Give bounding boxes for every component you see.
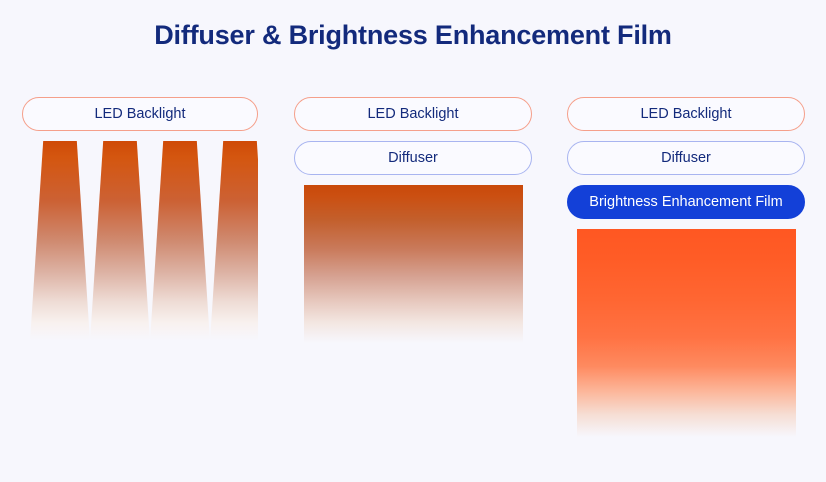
layer-pill-diffuser[interactable]: Diffuser xyxy=(294,141,532,175)
layer-pill-led-backlight[interactable]: LED Backlight xyxy=(567,97,805,131)
led-light-cone xyxy=(30,141,90,341)
page-title: Diffuser & Brightness Enhancement Film xyxy=(0,20,826,51)
layer-pill-diffuser[interactable]: Diffuser xyxy=(567,141,805,175)
layer-pill-brightness-enhancement-film[interactable]: Brightness Enhancement Film xyxy=(567,185,805,219)
led-light-cone xyxy=(210,141,258,341)
panel-diffuser: LED Backlight Diffuser xyxy=(294,97,532,385)
light-stage-bef xyxy=(567,229,805,441)
light-stage-led xyxy=(22,141,258,353)
diffused-light-block xyxy=(304,185,523,343)
panel-brightness-enhancement-film: LED Backlight Diffuser Brightness Enhanc… xyxy=(567,97,805,441)
layer-pill-led-backlight[interactable]: LED Backlight xyxy=(294,97,532,131)
enhanced-light-block xyxy=(577,229,796,437)
panel-led-backlight: LED Backlight xyxy=(22,97,258,353)
light-stage-diffuser xyxy=(294,185,532,385)
led-light-cone xyxy=(150,141,210,341)
layer-pill-led-backlight[interactable]: LED Backlight xyxy=(22,97,258,131)
led-light-cone xyxy=(90,141,150,341)
